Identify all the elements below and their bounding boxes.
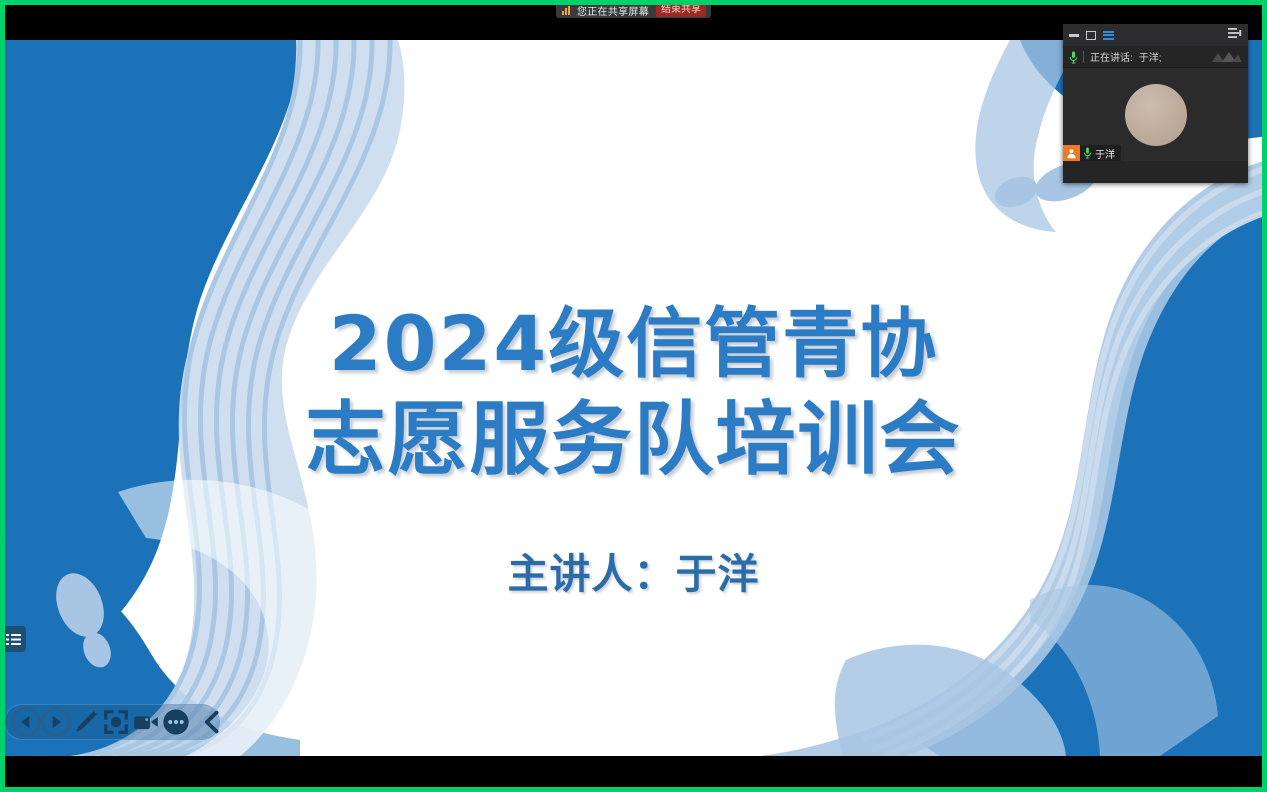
share-status-pill: 您正在共享屏幕 结束共享 xyxy=(556,2,711,18)
participant-avatar-badge-icon xyxy=(1063,145,1080,161)
screen-share-bar: 您正在共享屏幕 结束共享 xyxy=(0,0,1267,20)
collapse-toolbar-button[interactable] xyxy=(197,707,227,737)
participant-name: 于洋 xyxy=(1095,146,1115,161)
magnify-frame-icon xyxy=(101,364,131,756)
active-speaker-bar: 正在讲话: 于洋; xyxy=(1063,46,1248,68)
expand-sidebar-glyph xyxy=(1228,27,1242,39)
microphone-icon xyxy=(1069,51,1077,63)
minimize-icon[interactable] xyxy=(1069,34,1079,37)
maximize-icon[interactable] xyxy=(1086,31,1096,40)
microphone-glyph xyxy=(1069,51,1078,64)
zoom-video-panel[interactable]: 正在讲话: 于洋; xyxy=(1063,24,1248,183)
audio-wave-icon xyxy=(1168,50,1242,64)
subtitle-video-button[interactable] xyxy=(131,707,161,737)
person-glyph xyxy=(1066,148,1077,159)
participant-video-tile[interactable]: 于洋 xyxy=(1063,68,1248,161)
zoom-window-controls xyxy=(1069,31,1114,40)
chevron-left-circle-icon xyxy=(11,364,41,756)
next-slide-button[interactable] xyxy=(41,707,71,737)
chevron-right-circle-icon xyxy=(41,364,71,756)
more-options-button[interactable] xyxy=(161,707,191,737)
end-share-button[interactable]: 结束共享 xyxy=(656,3,706,17)
previous-slide-button[interactable] xyxy=(11,707,41,737)
video-camera-icon xyxy=(131,364,161,756)
pen-tool-button[interactable] xyxy=(71,707,101,737)
speaker-divider xyxy=(1083,51,1084,63)
audio-wave-glyph xyxy=(1210,50,1242,64)
user-avatar-icon xyxy=(1125,84,1187,146)
screen-root: 您正在共享屏幕 结束共享 xyxy=(0,0,1267,792)
participant-name-badge: 于洋 xyxy=(1063,145,1121,161)
expand-sidebar-icon[interactable] xyxy=(1228,26,1242,44)
chevron-left-icon xyxy=(197,364,227,756)
participant-name-wrap: 于洋 xyxy=(1080,145,1121,161)
speaking-label: 正在讲话: xyxy=(1090,49,1133,64)
speaking-name: 于洋; xyxy=(1139,49,1162,64)
ellipsis-circle-icon xyxy=(161,364,191,756)
signal-bars-icon xyxy=(562,6,570,15)
pen-icon xyxy=(71,364,101,756)
presentation-toolbar xyxy=(4,704,220,740)
share-status-text: 您正在共享屏幕 xyxy=(577,3,649,18)
zoom-slide-button[interactable] xyxy=(101,707,131,737)
list-view-icon[interactable] xyxy=(1103,31,1114,40)
zoom-panel-titlebar[interactable] xyxy=(1063,24,1248,46)
microphone-icon xyxy=(1083,147,1092,159)
